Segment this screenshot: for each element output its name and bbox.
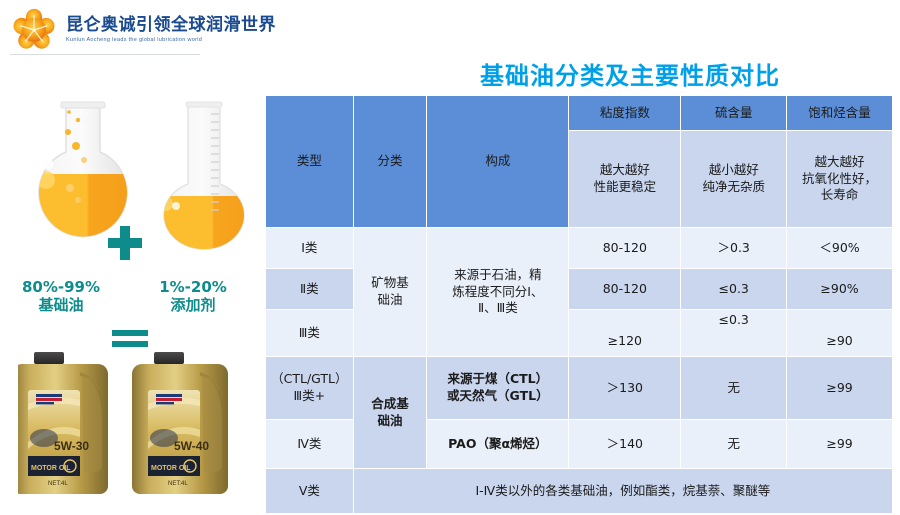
cell-composition-mineral: 来源于石油，精 炼程度不同分Ⅰ、 Ⅱ、Ⅲ类: [427, 228, 568, 356]
cell-category-synthetic: 合成基 础油: [354, 357, 427, 468]
cell-composition-class-4: PAO（聚α烯烃）: [427, 420, 568, 468]
brand-name-cn: 昆仑奥诚引领全球润滑世界: [66, 17, 276, 35]
motor-oil-bottle-icon: 5W-40 MOTOR OIL NET:4L: [132, 352, 228, 494]
kunlun-petal-logo-icon: [10, 6, 58, 54]
cell-viscosity-class-2: 80-120: [569, 269, 680, 309]
col-header-saturates-content: 饱和烃含量: [787, 96, 892, 130]
cell-sulfur-class-3: ≤0.3: [681, 310, 786, 356]
cell-saturates-class-2: ≥90%: [787, 269, 892, 309]
cell-viscosity-class-4: ＞140: [569, 420, 680, 468]
motor-oil-bottle-icon: 5W-30 MOTOR OIL NET:4L: [18, 352, 108, 494]
cell-note-class-5: Ⅰ-Ⅳ类以外的各类基础油，例如酯类，烷基萘、聚醚等: [354, 469, 892, 513]
table-row: Ⅴ类 Ⅰ-Ⅳ类以外的各类基础油，例如酯类，烷基萘、聚醚等: [266, 469, 892, 513]
cell-composition-ctl-gtl: 来源于煤（CTL） 或天然气（GTL）: [427, 357, 568, 419]
additive-label: 添加剂: [138, 296, 248, 314]
brand-logo: 昆仑奥诚引领全球润滑世界 Kunlun Aocheng leads the gl…: [10, 6, 276, 54]
cell-type-class-3: Ⅲ类: [266, 310, 353, 356]
cell-sulfur-class-1: ＞0.3: [681, 228, 786, 268]
table-row: Ⅰ类 矿物基 础油 来源于石油，精 炼程度不同分Ⅰ、 Ⅱ、Ⅲ类 80-120 ＞…: [266, 228, 892, 268]
motor-oil-bottle-group: 5W-30 MOTOR OIL NET:4L: [18, 346, 244, 510]
brand-name-en: Kunlun Aocheng leads the global lubricat…: [66, 37, 276, 43]
cell-category-mineral: 矿物基 础油: [354, 228, 427, 356]
col-header-category: 分类: [354, 96, 427, 227]
cell-type-ctl-gtl: （CTL/GTL） Ⅲ类+: [266, 357, 353, 419]
additive-ratio: 1%-20% 添加剂: [138, 278, 248, 315]
cell-viscosity-ctl-gtl: ＞130: [569, 357, 680, 419]
bottle-grade-right: 5W-40: [174, 439, 209, 453]
cell-saturates-class-4: ≥99: [787, 420, 892, 468]
cell-saturates-ctl-gtl: ≥99: [787, 357, 892, 419]
table-header-row: 类型 分类 构成 粘度指数 硫含量 饱和烃含量: [266, 96, 892, 130]
header-divider: [10, 54, 200, 55]
base-oil-ratio: 80%-99% 基础油: [6, 278, 116, 315]
bottle-volume-right: NET:4L: [168, 481, 188, 487]
plus-icon: [108, 226, 142, 260]
bottle-grade-left: 5W-30: [54, 439, 89, 453]
bottle-volume-left: NET:4L: [48, 481, 68, 487]
cell-type-class-2: Ⅱ类: [266, 269, 353, 309]
base-oil-comparison-table: 类型 分类 构成 粘度指数 硫含量 饱和烃含量 越大越好 性能更稳定 越小越好 …: [265, 95, 893, 514]
additive-percent: 1%-20%: [138, 278, 248, 296]
cell-saturates-class-1: ＜90%: [787, 228, 892, 268]
subheader-viscosity: 越大越好 性能更稳定: [569, 131, 680, 227]
subheader-sulfur: 越小越好 纯净无杂质: [681, 131, 786, 227]
page-title: 基础油分类及主要性质对比: [420, 56, 840, 91]
cell-sulfur-ctl-gtl: 无: [681, 357, 786, 419]
cell-saturates-class-3: ≥90: [787, 310, 892, 356]
cell-type-class-1: Ⅰ类: [266, 228, 353, 268]
cell-type-class-5: Ⅴ类: [266, 469, 353, 513]
cell-sulfur-class-4: 无: [681, 420, 786, 468]
cell-viscosity-class-1: 80-120: [569, 228, 680, 268]
col-header-type: 类型: [266, 96, 353, 227]
table-row: （CTL/GTL） Ⅲ类+ 合成基 础油 来源于煤（CTL） 或天然气（GTL）…: [266, 357, 892, 419]
col-header-sulfur-content: 硫含量: [681, 96, 786, 130]
cell-type-class-4: Ⅳ类: [266, 420, 353, 468]
col-header-composition: 构成: [427, 96, 568, 227]
subheader-saturates: 越大越好 抗氧化性好， 长寿命: [787, 131, 892, 227]
cell-sulfur-class-2: ≤0.3: [681, 269, 786, 309]
base-oil-percent: 80%-99%: [6, 278, 116, 296]
cell-viscosity-class-3: ≥120: [569, 310, 680, 356]
base-oil-label: 基础油: [6, 296, 116, 314]
round-flask-icon: [18, 102, 158, 244]
volumetric-flask-icon: [148, 102, 254, 256]
slide-canvas: 昆仑奥诚引领全球润滑世界 Kunlun Aocheng leads the gl…: [0, 0, 900, 510]
col-header-viscosity-index: 粘度指数: [569, 96, 680, 130]
base-oil-illustration: 80%-99% 基础油 1%-20% 添加剂: [0, 88, 262, 510]
